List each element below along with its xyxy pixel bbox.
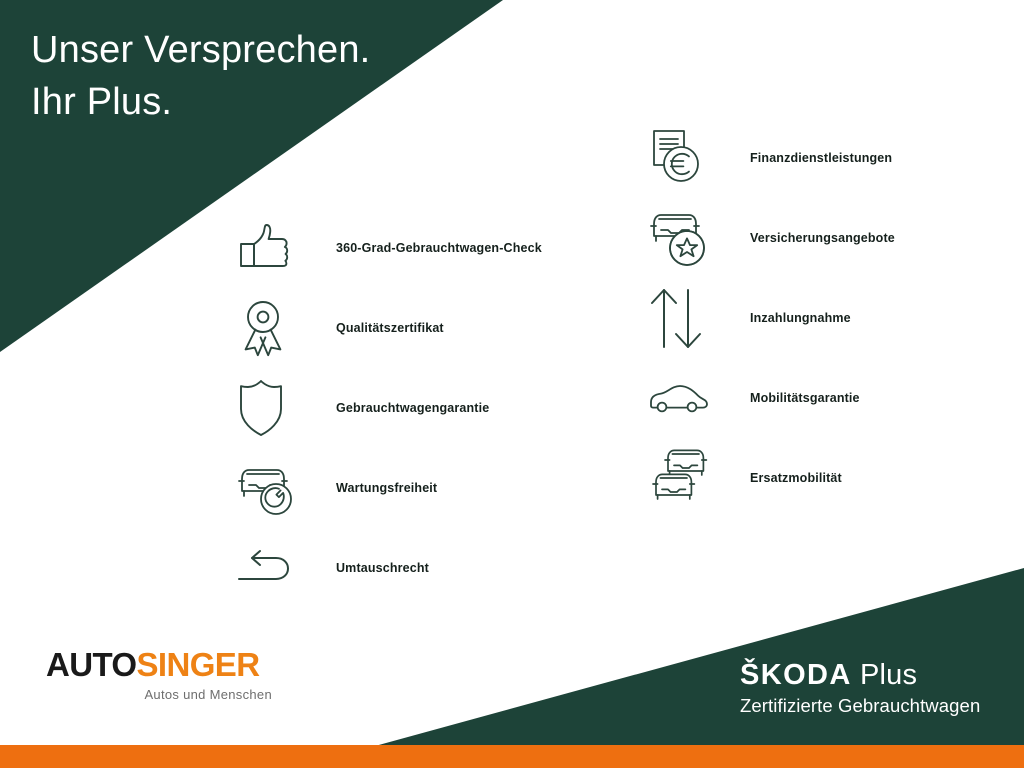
feature-label: Mobilitätsgarantie bbox=[750, 391, 860, 405]
feature-label: Gebrauchtwagengarantie bbox=[336, 401, 489, 415]
promo-banner: Unser Versprechen. Ihr Plus. 360-Grad-Ge… bbox=[0, 0, 1024, 768]
orange-accent-bar bbox=[0, 745, 1024, 768]
feature-item-360-check: 360-Grad-Gebrauchtwagen-Check bbox=[236, 208, 542, 288]
feature-label: Wartungsfreiheit bbox=[336, 481, 437, 495]
dealer-word-secondary: SINGER bbox=[137, 646, 260, 683]
page-title: Unser Versprechen. Ihr Plus. bbox=[31, 24, 370, 128]
feature-item-trade-in: Inzahlungnahme bbox=[648, 278, 895, 358]
feature-item-mobility-guarantee: Mobilitätsgarantie bbox=[648, 358, 895, 438]
dealer-word-primary: AUTO bbox=[46, 646, 137, 683]
up-down-arrows-icon bbox=[648, 286, 720, 350]
car-side-icon bbox=[648, 366, 720, 430]
brand-suffix: Plus bbox=[852, 659, 917, 691]
feature-item-quality-certificate: Qualitätszertifikat bbox=[236, 288, 542, 368]
feature-list-right: Finanzdienstleistungen Versicherungsange… bbox=[648, 118, 895, 518]
brand-logo: ŠKODA Plus Zertifizierte Gebrauchtwagen bbox=[740, 660, 980, 718]
feature-label: Ersatzmobilität bbox=[750, 471, 842, 485]
feature-label: 360-Grad-Gebrauchtwagen-Check bbox=[336, 241, 542, 255]
feature-label: Qualitätszertifikat bbox=[336, 321, 444, 335]
brand-subtitle: Zertifizierte Gebrauchtwagen bbox=[740, 694, 980, 718]
headline-line-2: Ihr Plus. bbox=[31, 76, 370, 128]
dealer-tagline: Autos und Menschen bbox=[46, 687, 272, 702]
dealer-wordmark: AUTOSINGER bbox=[46, 648, 272, 682]
brand-logo-line-1: ŠKODA Plus bbox=[740, 660, 980, 691]
feature-item-insurance-offers: Versicherungsangebote bbox=[648, 198, 895, 278]
quality-rosette-icon bbox=[236, 296, 308, 360]
headline-line-1: Unser Versprechen. bbox=[31, 24, 370, 76]
u-turn-arrow-icon bbox=[236, 536, 308, 600]
feature-list-left: 360-Grad-Gebrauchtwagen-Check Qualitätsz… bbox=[236, 208, 542, 608]
thumbs-up-icon bbox=[236, 216, 308, 280]
shield-icon bbox=[236, 376, 308, 440]
feature-label: Umtauschrecht bbox=[336, 561, 429, 575]
feature-item-financial-services: Finanzdienstleistungen bbox=[648, 118, 895, 198]
car-wrench-icon bbox=[236, 456, 308, 520]
brand-name: ŠKODA bbox=[740, 659, 852, 691]
car-star-shield-icon bbox=[648, 206, 720, 270]
feature-item-maintenance-free: Wartungsfreiheit bbox=[236, 448, 542, 528]
document-euro-icon bbox=[648, 126, 720, 190]
two-cars-icon bbox=[648, 446, 720, 510]
feature-item-exchange-right: Umtauschrecht bbox=[236, 528, 542, 608]
dealer-logo: AUTOSINGER Autos und Menschen bbox=[46, 648, 272, 702]
feature-label: Inzahlungnahme bbox=[750, 311, 851, 325]
feature-label: Versicherungsangebote bbox=[750, 231, 895, 245]
feature-item-warranty: Gebrauchtwagengarantie bbox=[236, 368, 542, 448]
feature-item-replacement-mobility: Ersatzmobilität bbox=[648, 438, 895, 518]
feature-label: Finanzdienstleistungen bbox=[750, 151, 892, 165]
